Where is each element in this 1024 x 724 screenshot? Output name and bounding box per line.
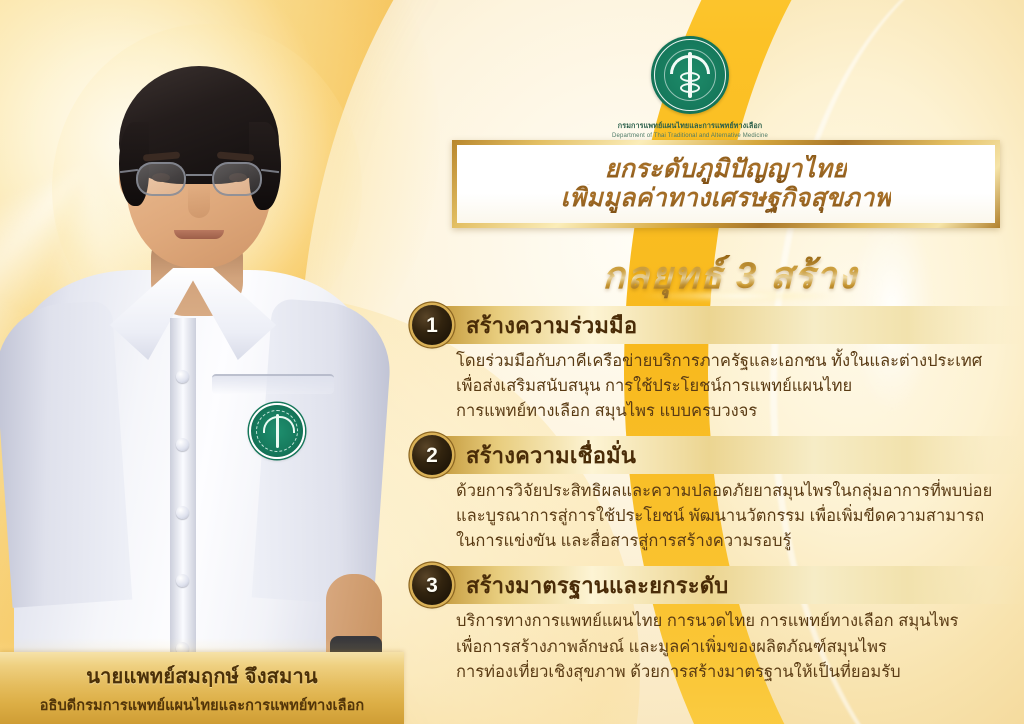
strategy-item-2: 2 สร้างความเชื่อมั่น ด้วยการวิจัยประสิทธ… — [412, 436, 1024, 554]
heading-sparkle — [600, 288, 880, 304]
department-name-thai: กรมการแพทย์แผนไทยและการแพทย์ทางเลือก — [560, 121, 820, 132]
strategy-title-2: สร้างความเชื่อมั่น — [466, 438, 636, 473]
eyeglasses-lens-right — [212, 162, 262, 196]
strategy-body-line: ในการแข่งขัน และสื่อสารสู่การสร้างความรอ… — [456, 529, 1024, 554]
moph-chest-emblem-icon — [249, 403, 305, 459]
strategy-header-1: 1 สร้างความร่วมมือ — [412, 306, 1024, 344]
department-name-english: Department of Thai Traditional and Alter… — [560, 133, 820, 139]
uniform-button — [176, 506, 189, 519]
uniform-button — [176, 370, 189, 383]
strategy-body-line: การแพทย์ทางเลือก สมุนไพร แบบครบวงจร — [456, 399, 1024, 424]
speaker-name: นายแพทย์สมฤกษ์ จึงสมาน — [86, 660, 318, 692]
moph-caduceus-seal-icon — [651, 36, 729, 114]
uniform-button — [176, 574, 189, 587]
speaker-caption: นายแพทย์สมฤกษ์ จึงสมาน อธิบดีกรมการแพทย์… — [0, 652, 404, 724]
strategy-body-line: การท่องเที่ยวเชิงสุขภาพ ด้วยการสร้างมาตร… — [456, 660, 1024, 685]
strategy-title-3: สร้างมาตรฐานและยกระดับ — [466, 568, 728, 603]
strategy-header-3: 3 สร้างมาตรฐานและยกระดับ — [412, 566, 1024, 604]
organization-logo-block: กรมการแพทย์แผนไทยและการแพทย์ทางเลือก Dep… — [560, 36, 820, 139]
portrait-photo — [0, 18, 400, 708]
strategy-number-3: 3 — [426, 575, 438, 596]
strategy-list: 1 สร้างความร่วมมือ โดยร่วมมือกับภาคีเครื… — [412, 306, 1024, 697]
strategy-body-line: เพื่อการสร้างภาพลักษณ์ และมูลค่าเพิ่มของ… — [456, 635, 1024, 660]
strategy-item-3: 3 สร้างมาตรฐานและยกระดับ บริการทางการแพท… — [412, 566, 1024, 684]
eyeglasses-lens-left — [136, 162, 186, 196]
strategy-header-2: 2 สร้างความเชื่อมั่น — [412, 436, 1024, 474]
strategy-title-bar-3: สร้างมาตรฐานและยกระดับ — [440, 566, 1024, 604]
strategy-body-2: ด้วยการวิจัยประสิทธิผลและความปลอดภัยยาสม… — [456, 479, 1024, 554]
strategy-body-3: บริการทางการแพทย์แผนไทย การนวดไทย การแพท… — [456, 609, 1024, 684]
person-figure — [0, 18, 400, 708]
strategy-body-line: บริการทางการแพทย์แผนไทย การนวดไทย การแพท… — [456, 609, 1024, 634]
strategy-number-badge-1: 1 — [412, 305, 452, 345]
mouth — [174, 230, 224, 239]
nose — [188, 184, 210, 218]
strategy-title-bar-2: สร้างความเชื่อมั่น — [440, 436, 1024, 474]
infographic-poster: กรมการแพทย์แผนไทยและการแพทย์ทางเลือก Dep… — [0, 0, 1024, 724]
eyeglasses-bridge — [186, 174, 212, 176]
uniform-pocket — [212, 374, 334, 394]
strategy-number-2: 2 — [426, 445, 438, 466]
strategy-body-line: และบูรณาการสู่การใช้ประโยชน์ พัฒนานวัตกร… — [456, 504, 1024, 529]
strategy-body-line: ด้วยการวิจัยประสิทธิผลและความปลอดภัยยาสม… — [456, 479, 1024, 504]
strategy-body-line: โดยร่วมมือกับภาคีเครือข่ายบริการภาครัฐแล… — [456, 349, 1024, 374]
emblem-ring — [256, 410, 298, 452]
strategy-body-1: โดยร่วมมือกับภาคีเครือข่ายบริการภาครัฐแล… — [456, 349, 1024, 424]
strategy-item-1: 1 สร้างความร่วมมือ โดยร่วมมือกับภาคีเครื… — [412, 306, 1024, 424]
title-banner: ยกระดับภูมิปัญญาไทย เพิ่มมูลค่าทางเศรษฐก… — [452, 140, 1000, 228]
uniform-shoulder-left — [0, 300, 132, 608]
strategy-title-bar-1: สร้างความร่วมมือ — [440, 306, 1024, 344]
speaker-role: อธิบดีกรมการแพทย์แผนไทยและการแพทย์ทางเลื… — [40, 694, 365, 717]
banner-line-2: เพิ่มมูลค่าทางเศรษฐกิจสุขภาพ — [561, 184, 892, 214]
uniform-button — [176, 438, 189, 451]
strategy-body-line: เพื่อส่งเสริมสนับสนุน การใช้ประโยชน์การแ… — [456, 374, 1024, 399]
strategy-number-1: 1 — [426, 315, 438, 336]
strategy-title-1: สร้างความร่วมมือ — [466, 308, 637, 343]
title-banner-inner: ยกระดับภูมิปัญญาไทย เพิ่มมูลค่าทางเศรษฐก… — [457, 145, 995, 223]
caduceus-serpent-coil-icon — [680, 72, 700, 82]
caduceus-serpent-coil-icon — [680, 83, 700, 93]
banner-line-1: ยกระดับภูมิปัญญาไทย — [605, 155, 847, 185]
strategy-number-badge-2: 2 — [412, 435, 452, 475]
